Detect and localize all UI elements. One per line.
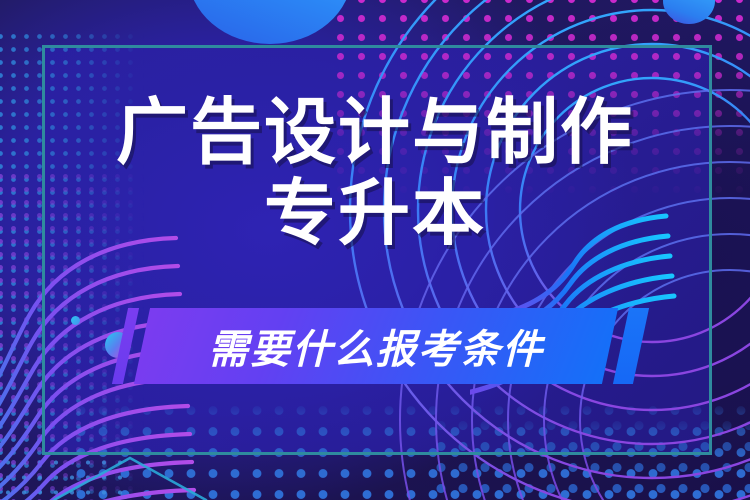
subtitle-ribbon: 需要什么报考条件 (108, 308, 648, 384)
page-title: 广告设计与制作 专升本 (0, 96, 750, 252)
cyan-gradient-dot-small-icon (71, 316, 80, 325)
ribbon-accent-bar-left (112, 308, 139, 384)
hexagon-outline-icon (30, 452, 230, 500)
poster-banner: 广告设计与制作 专升本 需要什么报考条件 (0, 0, 750, 500)
ribbon-accent-bar-right (613, 308, 649, 384)
title-line-primary: 广告设计与制作 (0, 96, 750, 171)
title-line-secondary: 专升本 (0, 177, 750, 252)
subtitle-label: 需要什么报考条件 (142, 308, 610, 384)
